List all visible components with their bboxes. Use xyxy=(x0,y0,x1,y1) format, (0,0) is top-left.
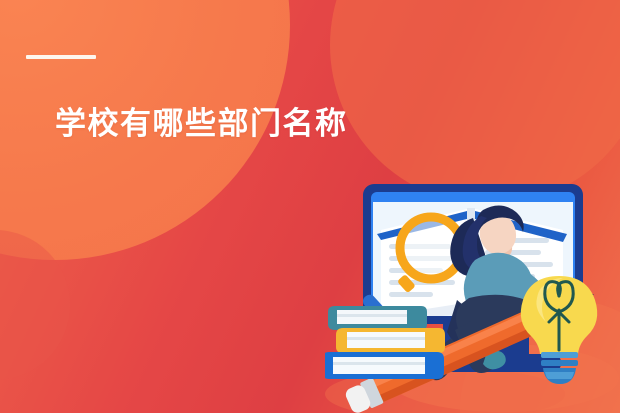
book-blue xyxy=(325,352,444,379)
banner-card: 学校有哪些部门名称 xyxy=(0,0,620,413)
book-yellow xyxy=(336,328,445,353)
book-teal xyxy=(328,306,427,330)
accent-rule-decoration xyxy=(26,55,96,59)
stack-of-three-books xyxy=(325,306,445,379)
student-studying-online-illustration xyxy=(325,172,620,413)
page-title: 学校有哪些部门名称 xyxy=(55,105,348,143)
